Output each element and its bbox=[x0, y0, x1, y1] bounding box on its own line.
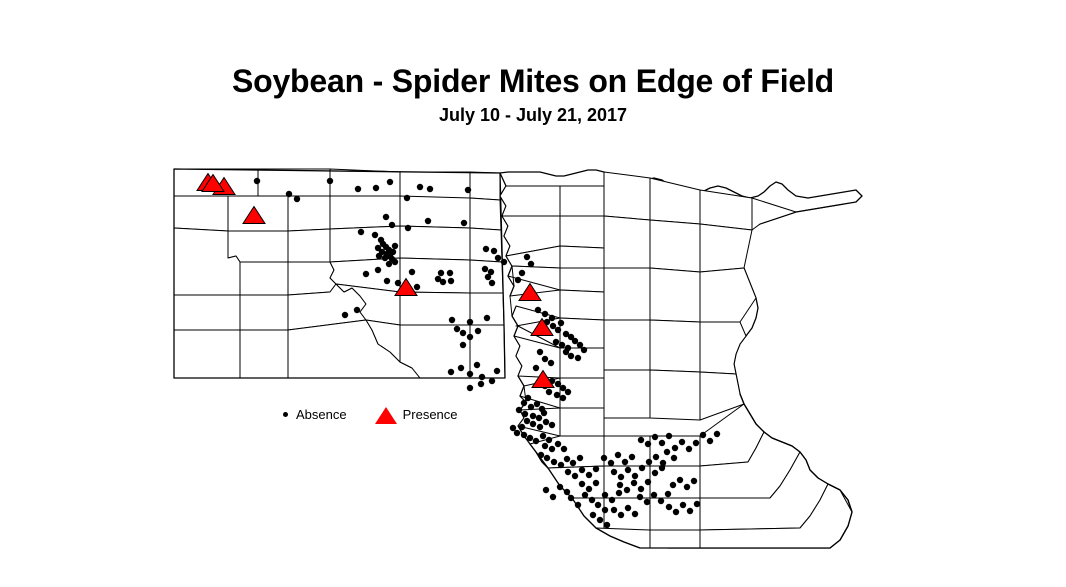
absence-dot bbox=[555, 441, 561, 447]
absence-dot bbox=[527, 435, 533, 441]
absence-dot bbox=[467, 371, 473, 377]
absence-dot bbox=[565, 469, 571, 475]
absence-dot bbox=[465, 187, 471, 193]
absence-dot bbox=[572, 473, 578, 479]
absence-dot bbox=[483, 246, 489, 252]
absence-dot bbox=[386, 261, 392, 267]
map-canvas bbox=[0, 0, 1066, 587]
absence-dot bbox=[582, 492, 588, 498]
absence-dot bbox=[548, 360, 554, 366]
map-legend: Absence Presence bbox=[278, 402, 458, 426]
absence-dot bbox=[625, 467, 631, 473]
absence-dot bbox=[629, 454, 635, 460]
absence-dot bbox=[575, 502, 581, 508]
absence-dot bbox=[542, 356, 548, 362]
absence-dot bbox=[530, 413, 536, 419]
absence-dot bbox=[631, 480, 637, 486]
absence-dot bbox=[525, 395, 531, 401]
absence-dot bbox=[474, 362, 480, 368]
absence-dot bbox=[632, 473, 638, 479]
absence-dot bbox=[387, 179, 393, 185]
absence-dot bbox=[645, 441, 651, 447]
absence-dot bbox=[327, 178, 333, 184]
absence-dot bbox=[611, 469, 617, 475]
absence-dot bbox=[489, 280, 495, 286]
absence-dot bbox=[425, 218, 431, 224]
absence-dot bbox=[501, 259, 507, 265]
absence-dot bbox=[522, 411, 528, 417]
absence-dot bbox=[581, 347, 587, 353]
absence-dot bbox=[528, 404, 534, 410]
absence-dot bbox=[637, 494, 643, 500]
absence-dot bbox=[568, 353, 574, 359]
absence-dot bbox=[467, 319, 473, 325]
absence-dot bbox=[427, 186, 433, 192]
absence-dot bbox=[286, 191, 292, 197]
absence-dot bbox=[478, 381, 484, 387]
absence-dot bbox=[515, 277, 521, 283]
absence-dot bbox=[686, 446, 692, 452]
absence-dot bbox=[638, 437, 644, 443]
absence-dot bbox=[458, 365, 464, 371]
absence-dot bbox=[660, 460, 666, 466]
absence-dot bbox=[604, 522, 610, 528]
absence-dot bbox=[586, 472, 592, 478]
absence-dot bbox=[652, 470, 658, 476]
absence-dot bbox=[354, 307, 360, 313]
absence-dot bbox=[597, 517, 603, 523]
absence-dot bbox=[549, 315, 555, 321]
absence-dot bbox=[537, 349, 543, 355]
absence-dot bbox=[521, 400, 527, 406]
absence-dot bbox=[666, 433, 672, 439]
absence-dot bbox=[684, 484, 690, 490]
absence-dot bbox=[294, 196, 300, 202]
absence-dot bbox=[550, 323, 556, 329]
absence-dot bbox=[555, 381, 561, 387]
absence-dot bbox=[372, 232, 378, 238]
absence-dot bbox=[622, 459, 628, 465]
absence-dot bbox=[700, 432, 706, 438]
absence-dot bbox=[358, 229, 364, 235]
absence-dot bbox=[586, 486, 592, 492]
absence-dot bbox=[557, 484, 563, 490]
absence-dot bbox=[404, 195, 410, 201]
absence-dot bbox=[564, 489, 570, 495]
absence-dot bbox=[533, 365, 539, 371]
absence-dot bbox=[510, 425, 516, 431]
absence-dot bbox=[671, 455, 677, 461]
absence-dot bbox=[521, 432, 527, 438]
absence-dot bbox=[549, 446, 555, 452]
absence-dot bbox=[564, 456, 570, 462]
absence-dot bbox=[618, 474, 624, 480]
absence-dot bbox=[395, 280, 401, 286]
absence-dot bbox=[491, 248, 497, 254]
absence-dot bbox=[549, 422, 555, 428]
absence-dot bbox=[665, 491, 671, 497]
absence-dot bbox=[484, 315, 490, 321]
absence-dot bbox=[593, 480, 599, 486]
absence-dot bbox=[611, 507, 617, 513]
absence-dot bbox=[447, 270, 453, 276]
absence-dot bbox=[672, 445, 678, 451]
absence-dot bbox=[568, 495, 574, 501]
absence-dot bbox=[440, 279, 446, 285]
absence-dot bbox=[639, 465, 645, 471]
absence-dot bbox=[414, 284, 420, 290]
absence-dot bbox=[617, 482, 623, 488]
absence-dot bbox=[714, 431, 720, 437]
absence-dot bbox=[658, 498, 664, 504]
absence-dot bbox=[392, 259, 398, 265]
absence-dot bbox=[460, 330, 466, 336]
absence-dot bbox=[342, 312, 348, 318]
absence-dot bbox=[666, 504, 672, 510]
absence-dot bbox=[646, 459, 652, 465]
absence-dot bbox=[535, 307, 541, 313]
legend-label-presence: Presence bbox=[403, 407, 458, 422]
absence-dot bbox=[579, 481, 585, 487]
absence-dot bbox=[624, 487, 630, 493]
absence-dot bbox=[670, 482, 676, 488]
absence-dot bbox=[550, 494, 556, 500]
absence-dot bbox=[543, 487, 549, 493]
absence-dot bbox=[460, 342, 466, 348]
absence-dot bbox=[514, 430, 520, 436]
absence-dot bbox=[254, 178, 260, 184]
absence-dot bbox=[609, 497, 615, 503]
absence-dot bbox=[680, 502, 686, 508]
absence-dot bbox=[694, 501, 700, 507]
absence-dot bbox=[551, 459, 557, 465]
absence-dot bbox=[536, 415, 542, 421]
absence-dot bbox=[555, 327, 561, 333]
absence-dot bbox=[664, 449, 670, 455]
absence-dot bbox=[375, 245, 381, 251]
absence-dot bbox=[541, 410, 547, 416]
absence-dot bbox=[417, 184, 423, 190]
absence-dot bbox=[673, 509, 679, 515]
absence-dot bbox=[494, 368, 500, 374]
absence-dot bbox=[524, 254, 530, 260]
absence-dot bbox=[533, 438, 539, 444]
absence-dot bbox=[495, 255, 501, 261]
absence-dot bbox=[577, 455, 583, 461]
absence-dot bbox=[519, 424, 525, 430]
absence-dot bbox=[467, 385, 473, 391]
absence-dot bbox=[542, 311, 548, 317]
absence-dot bbox=[438, 270, 444, 276]
absence-dot bbox=[652, 434, 658, 440]
absence-dot bbox=[679, 439, 685, 445]
absence-dot bbox=[601, 455, 607, 461]
absence-dot bbox=[595, 502, 601, 508]
absence-dot bbox=[553, 339, 559, 345]
absence-dot bbox=[475, 328, 481, 334]
absence-dot bbox=[543, 419, 549, 425]
absence-dot bbox=[575, 355, 581, 361]
absence-dot bbox=[602, 507, 608, 513]
absence-dot bbox=[638, 486, 644, 492]
absence-dot bbox=[653, 454, 659, 460]
absence-dot bbox=[449, 317, 455, 323]
absence-dot bbox=[355, 186, 361, 192]
absence-dot bbox=[546, 389, 552, 395]
absence-dot bbox=[560, 395, 566, 401]
absence-dot bbox=[479, 374, 485, 380]
presence-triangle-icon bbox=[373, 404, 399, 424]
absence-dot bbox=[693, 440, 699, 446]
absence-dot bbox=[376, 253, 382, 259]
absence-dot bbox=[677, 477, 683, 483]
absence-dot bbox=[565, 389, 571, 395]
absence-dot bbox=[405, 225, 411, 231]
absence-dot bbox=[590, 512, 596, 518]
absence-dot bbox=[632, 511, 638, 517]
absence-dot bbox=[572, 338, 578, 344]
absence-dot bbox=[485, 274, 491, 280]
absence-dot-icon bbox=[278, 404, 292, 424]
absence-dot bbox=[373, 185, 379, 191]
minnesota-counties bbox=[500, 170, 862, 548]
absence-dot bbox=[389, 222, 395, 228]
legend-item-presence: Presence bbox=[373, 404, 458, 424]
absence-dot bbox=[382, 255, 388, 261]
absence-dot bbox=[540, 433, 546, 439]
absence-dot bbox=[392, 243, 398, 249]
absence-dot bbox=[559, 342, 565, 348]
absence-dot bbox=[589, 497, 595, 503]
absence-dot bbox=[524, 418, 530, 424]
absence-dot bbox=[528, 261, 534, 267]
absence-dot bbox=[659, 440, 665, 446]
absence-dot bbox=[560, 385, 566, 391]
absence-dot bbox=[546, 437, 552, 443]
absence-dot bbox=[625, 505, 631, 511]
absence-dot bbox=[577, 342, 583, 348]
absence-dot bbox=[618, 512, 624, 518]
absence-dot bbox=[645, 479, 651, 485]
absence-dot bbox=[538, 452, 544, 458]
absence-dot bbox=[482, 266, 488, 272]
map-page: Soybean - Spider Mites on Edge of Field … bbox=[0, 0, 1066, 587]
absence-dot bbox=[616, 490, 622, 496]
absence-dot bbox=[534, 401, 540, 407]
absence-dot bbox=[602, 492, 608, 498]
absence-dot bbox=[542, 443, 548, 449]
absence-dot bbox=[454, 326, 460, 332]
absence-dot bbox=[530, 421, 536, 427]
absence-dot bbox=[461, 220, 467, 226]
absence-dot bbox=[570, 460, 576, 466]
absence-dot bbox=[467, 334, 473, 340]
absence-dot bbox=[691, 478, 697, 484]
absence-dot bbox=[593, 466, 599, 472]
legend-label-absence: Absence bbox=[296, 407, 347, 422]
absence-dot bbox=[537, 424, 543, 430]
absence-dot bbox=[489, 378, 495, 384]
absence-dot bbox=[390, 249, 396, 255]
absence-dot bbox=[544, 455, 550, 461]
absence-dot bbox=[384, 278, 390, 284]
absence-dot bbox=[644, 499, 650, 505]
absence-dot bbox=[707, 438, 713, 444]
absence-dot bbox=[579, 467, 585, 473]
absence-dot bbox=[516, 407, 522, 413]
legend-item-absence: Absence bbox=[278, 404, 347, 424]
north-dakota-counties bbox=[174, 169, 505, 378]
absence-dot bbox=[615, 452, 621, 458]
absence-dot bbox=[519, 270, 525, 276]
absence-dot bbox=[558, 462, 564, 468]
absence-dot bbox=[563, 349, 569, 355]
absence-dot bbox=[561, 446, 567, 452]
absence-dot bbox=[375, 267, 381, 273]
absence-dot bbox=[448, 278, 454, 284]
absence-dot bbox=[608, 460, 614, 466]
absence-dot bbox=[383, 214, 389, 220]
absence-dot bbox=[363, 271, 369, 277]
absence-dot bbox=[554, 392, 560, 398]
absence-dot bbox=[687, 508, 693, 514]
absence-dot bbox=[409, 269, 415, 275]
absence-dot bbox=[448, 369, 454, 375]
absence-dot bbox=[651, 492, 657, 498]
absence-dot bbox=[558, 320, 564, 326]
